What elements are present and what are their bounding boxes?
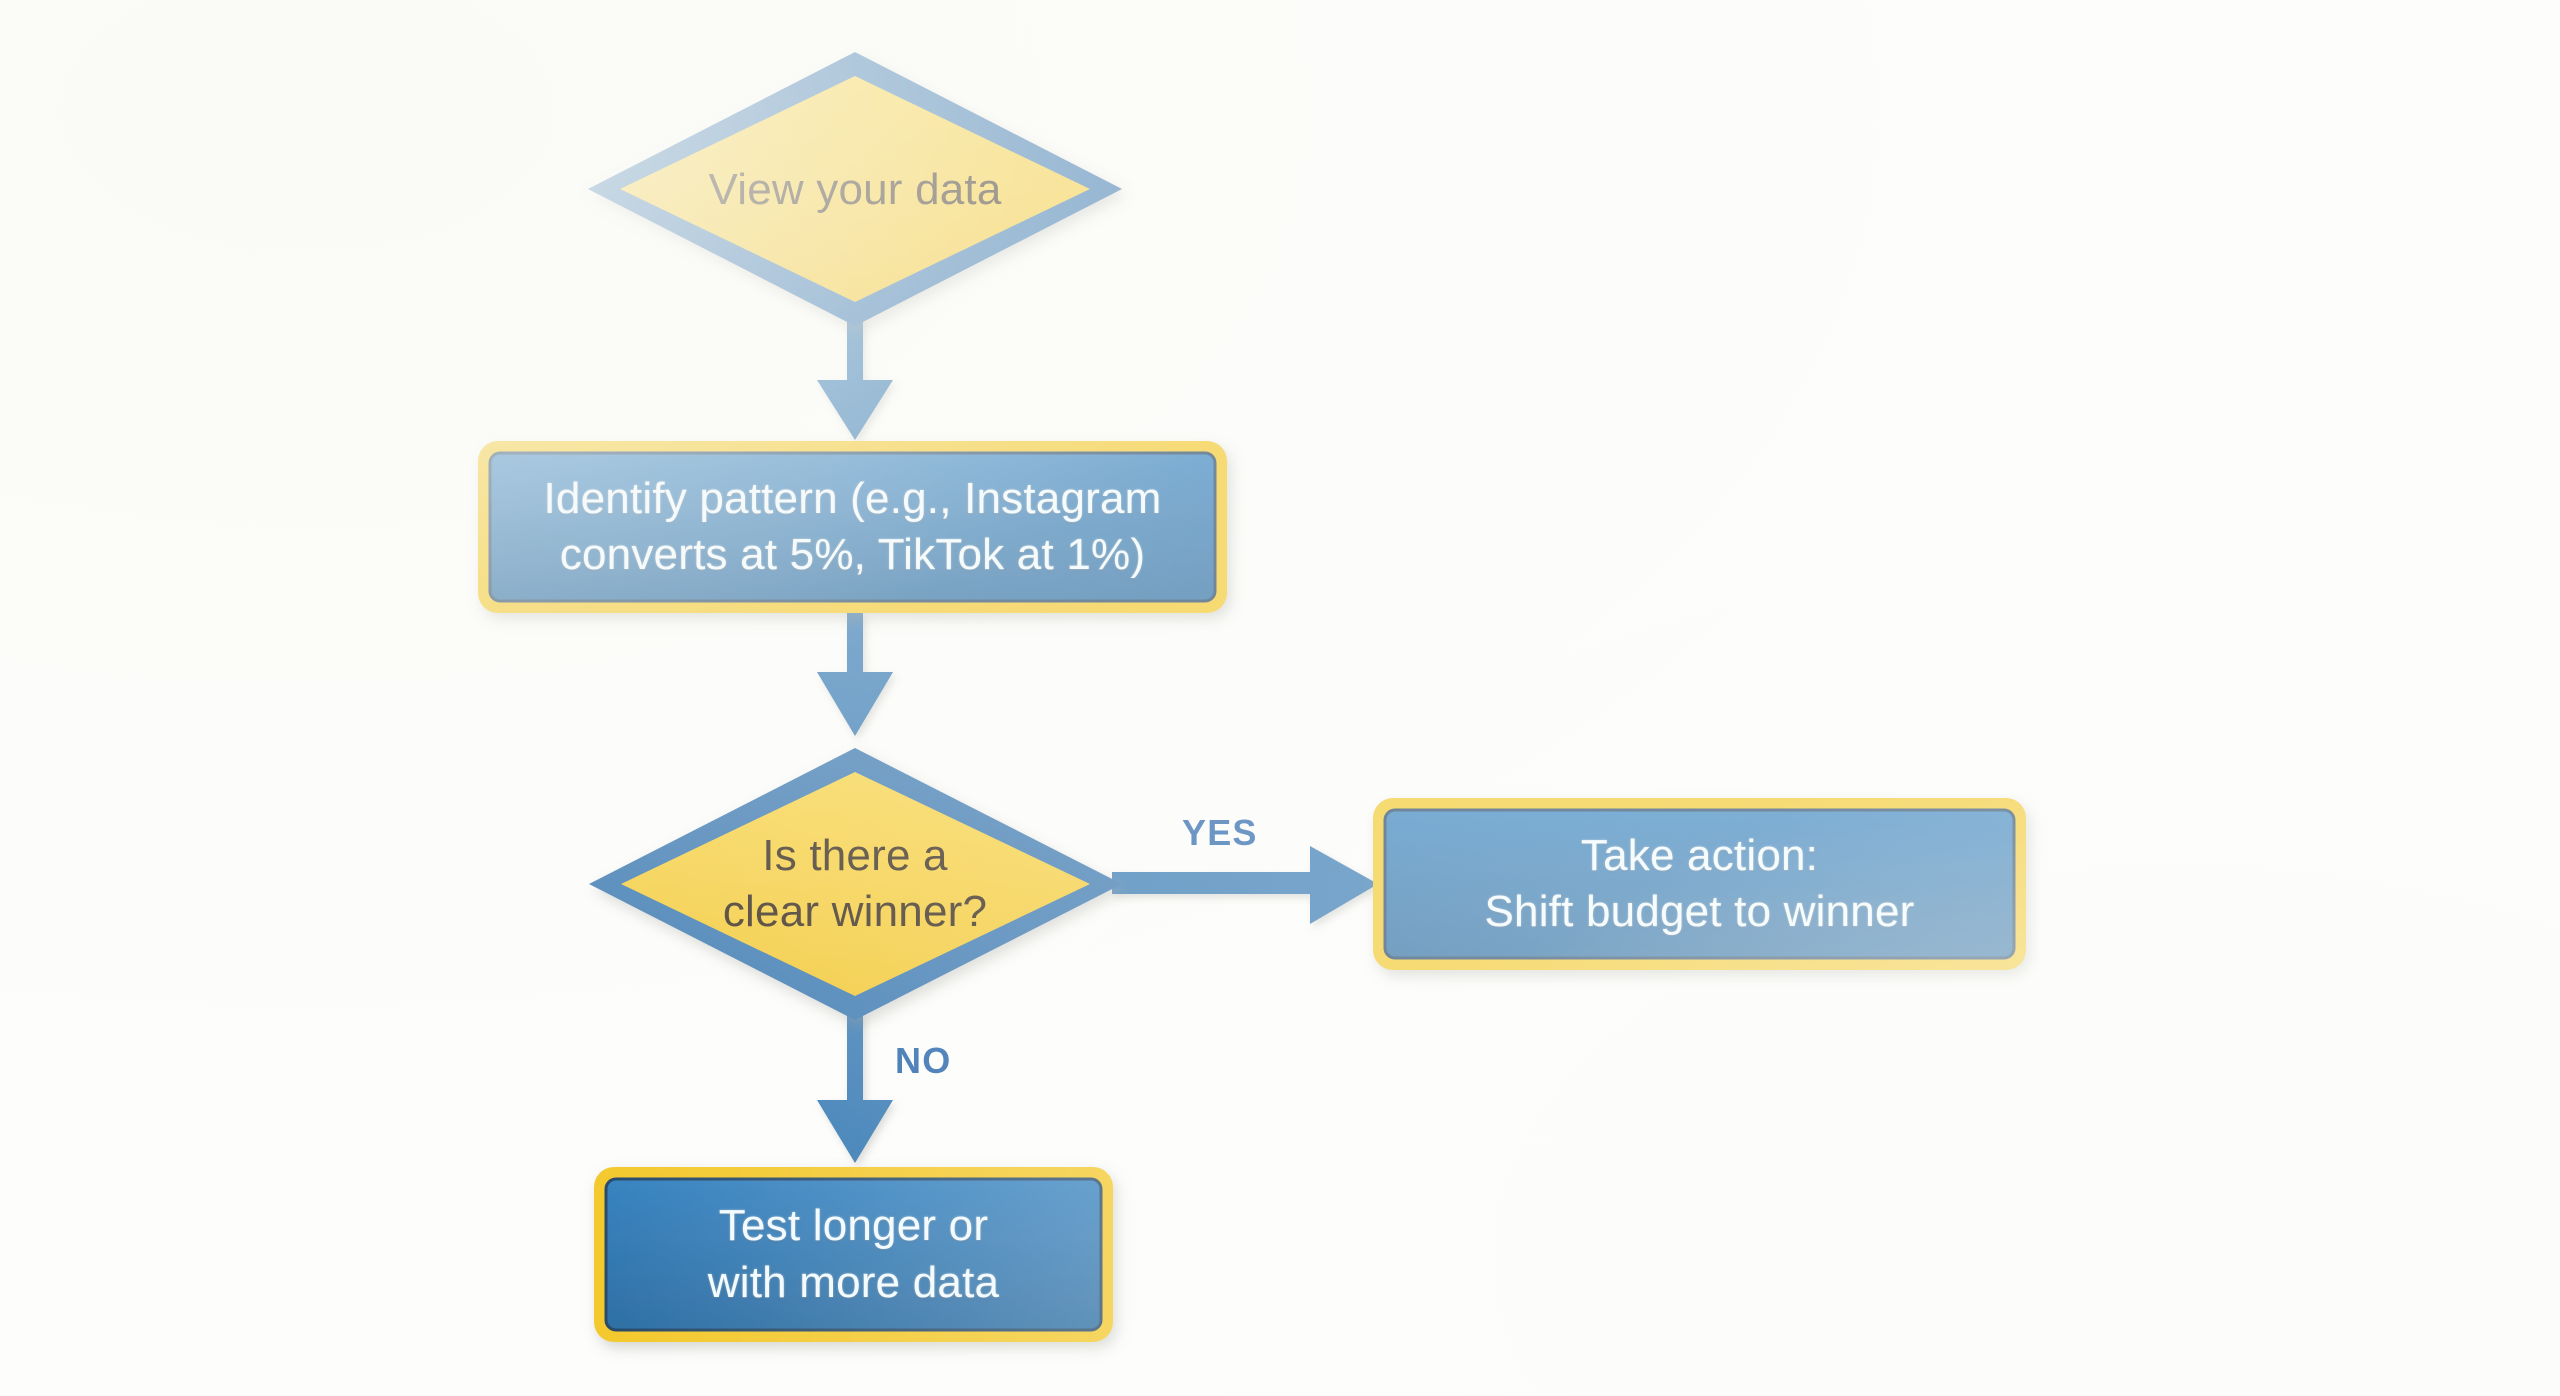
node-view-your-data[interactable] — [588, 52, 1122, 326]
edge-decision-to-take-action — [1112, 846, 1378, 924]
node-identify-pattern[interactable] — [478, 441, 1227, 613]
node-test-longer[interactable] — [594, 1167, 1113, 1342]
node-take-action[interactable] — [1373, 798, 2026, 970]
flowchart-canvas: View your data Identify pattern (e.g., I… — [0, 0, 2560, 1396]
edge-decision-to-test-longer — [817, 1012, 893, 1163]
edge-identify-to-decision — [817, 612, 893, 736]
node-is-there-a-clear-winner[interactable] — [589, 748, 1122, 1020]
flowchart-svg — [0, 0, 2560, 1396]
edge-start-to-identify — [817, 318, 893, 440]
